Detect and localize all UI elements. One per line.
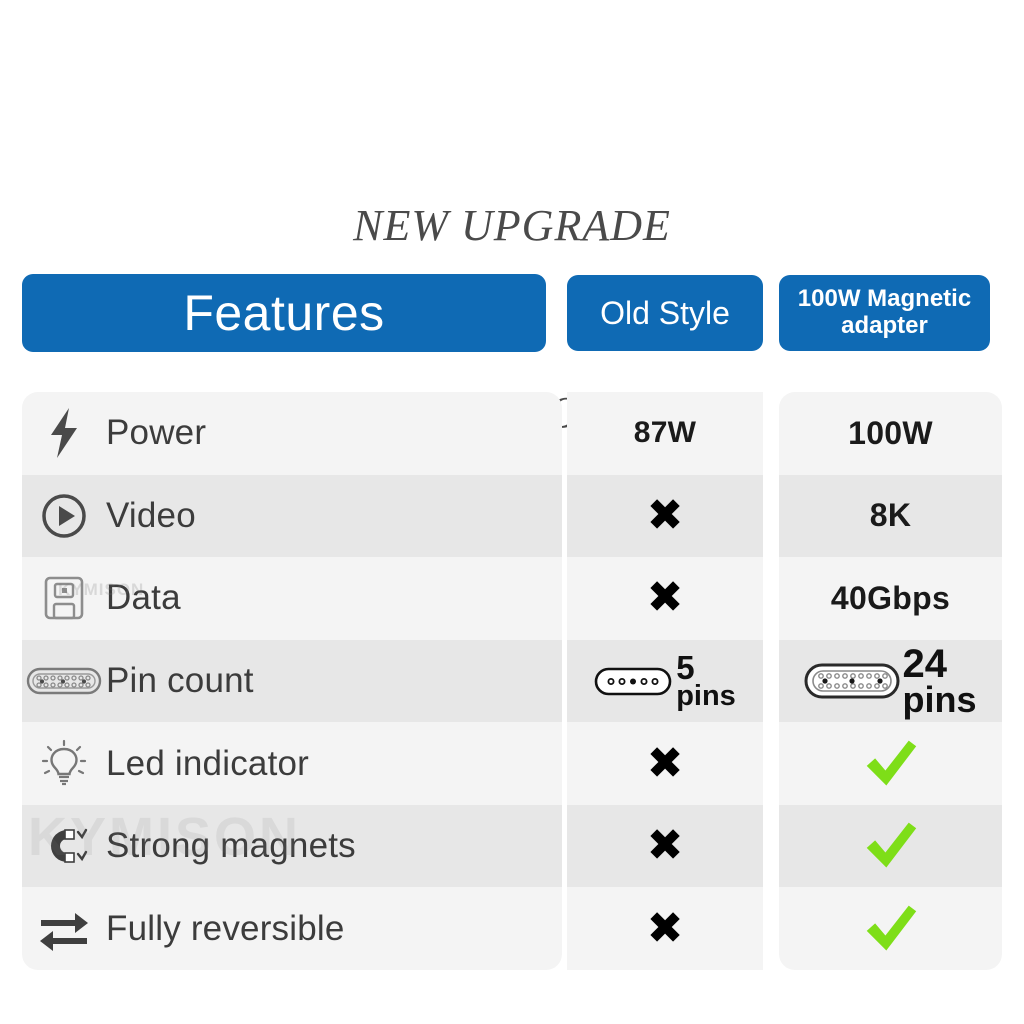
cell-old-data: ✖ <box>567 557 763 640</box>
table-row-feature-fully-reversible: Fully reversible <box>22 887 562 970</box>
feature-label: Led indicator <box>106 744 309 784</box>
cell-value: 87W <box>634 416 697 450</box>
cell-old-led-indicator: ✖ <box>567 722 763 805</box>
pin-count-unit: pins <box>902 683 976 717</box>
headline-line-1: NEW UPGRADE <box>0 195 1024 257</box>
pin-count-unit: pins <box>676 683 736 711</box>
cell-old-video: ✖ <box>567 475 763 558</box>
lightbulb-icon <box>22 739 106 789</box>
swap-arrows-icon <box>37 906 91 952</box>
cross-icon: ✖ <box>647 742 684 786</box>
floppy-disk-icon <box>43 575 85 621</box>
cell-value: 8K <box>870 497 912 534</box>
cell-old-strong-magnets: ✖ <box>567 805 763 888</box>
play-circle-icon <box>41 493 87 539</box>
cross-icon: ✖ <box>647 576 684 620</box>
play-circle-icon <box>22 493 106 539</box>
pin-count-number: 5 <box>676 652 694 683</box>
lightning-bolt-icon <box>43 407 85 459</box>
check-icon <box>863 818 919 874</box>
cell-new-data: 40Gbps <box>779 557 1002 640</box>
feature-label: Pin count <box>106 661 254 701</box>
feature-label: Data <box>106 578 181 618</box>
header-features: Features <box>22 274 546 352</box>
table-header-row: Features Old Style 100W Magnetic adapter <box>0 274 1024 354</box>
cell-value: 100W <box>848 415 933 452</box>
floppy-disk-icon <box>22 575 106 621</box>
table-row-feature-video: Video <box>22 475 562 558</box>
cross-icon: ✖ <box>647 494 684 538</box>
cell-new-video: 8K <box>779 475 1002 558</box>
swap-arrows-icon <box>22 906 106 952</box>
feature-label: Fully reversible <box>106 909 345 949</box>
connector-5pin-icon <box>594 664 672 698</box>
magnet-icon <box>37 824 91 868</box>
header-new-adapter: 100W Magnetic adapter <box>779 275 990 351</box>
cell-new-power: 100W <box>779 392 1002 475</box>
header-new-adapter-line-1: 100W Magnetic <box>798 285 971 312</box>
table-row-feature-strong-magnets: Strong magnets <box>22 805 562 888</box>
cross-icon: ✖ <box>647 907 684 951</box>
cell-new-led-indicator <box>779 722 1002 805</box>
connector-pins-icon <box>22 665 106 697</box>
magnet-icon <box>22 824 106 868</box>
feature-label: Video <box>106 496 196 536</box>
cross-icon: ✖ <box>647 824 684 868</box>
lightning-bolt-icon <box>22 407 106 459</box>
column-new-adapter: 100W8K40Gbps 24 pins <box>779 392 1002 970</box>
pin-count-value: 24 pins <box>804 645 976 717</box>
connector-24pin-icon <box>804 661 900 701</box>
header-new-adapter-line-2: adapter <box>841 312 928 339</box>
feature-label: Strong magnets <box>106 826 356 866</box>
cell-new-pin-count: 24 pins <box>779 640 1002 723</box>
cell-old-power: 87W <box>567 392 763 475</box>
check-icon <box>863 901 919 957</box>
comparison-table: Power Video Data Pin count <box>22 392 1002 970</box>
column-old-style: 87W✖✖ 5 pins ✖✖✖ <box>567 392 763 970</box>
header-new-adapter-label: 100W Magnetic adapter <box>798 286 971 340</box>
cell-old-fully-reversible: ✖ <box>567 887 763 970</box>
cell-new-fully-reversible <box>779 887 1002 970</box>
connector-pins-icon <box>26 665 102 697</box>
header-old-style-label: Old Style <box>600 295 730 332</box>
header-old-style: Old Style <box>567 275 763 351</box>
table-row-feature-power: Power <box>22 392 562 475</box>
pin-count-text: 24 pins <box>902 645 976 717</box>
feature-label: Power <box>106 413 206 453</box>
check-icon <box>863 736 919 792</box>
cell-old-pin-count: 5 pins <box>567 640 763 723</box>
table-row-feature-led-indicator: Led indicator <box>22 722 562 805</box>
pin-count-text: 5 pins <box>676 652 736 711</box>
cell-new-strong-magnets <box>779 805 1002 888</box>
table-row-feature-pin-count: Pin count <box>22 640 562 723</box>
column-features: Power Video Data Pin count <box>22 392 562 970</box>
table-row-feature-data: Data <box>22 557 562 640</box>
lightbulb-icon <box>40 739 88 789</box>
header-features-label: Features <box>183 284 384 342</box>
pin-count-value: 5 pins <box>594 652 736 711</box>
pin-count-number: 24 <box>902 645 947 683</box>
cell-value: 40Gbps <box>831 580 950 617</box>
